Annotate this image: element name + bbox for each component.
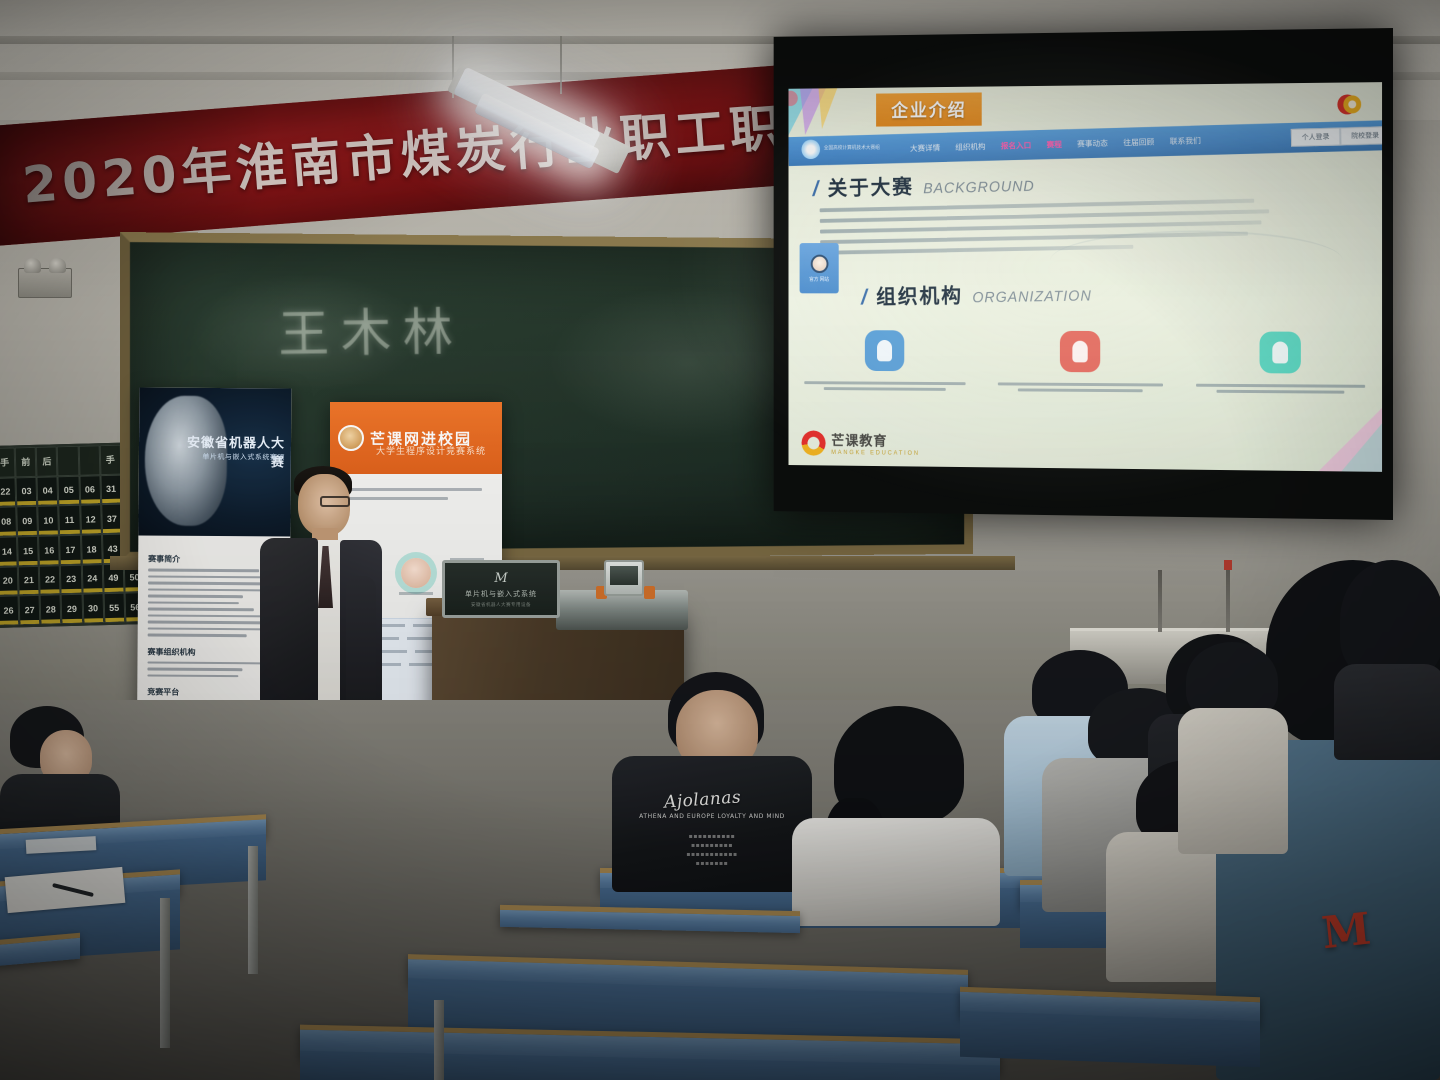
poster-body-line <box>148 595 243 598</box>
case-subtitle: 安徽省机器人大赛专用设备 <box>471 602 531 608</box>
seat-chart-cell: 03 <box>16 477 38 507</box>
slide-nav-item: 大赛详情 <box>910 142 940 154</box>
seat-chart-cell: 28 <box>40 595 62 625</box>
slide-decoration-topleft <box>788 84 859 135</box>
organization-caption <box>1192 381 1369 397</box>
poster-body-line <box>148 588 262 591</box>
student-body <box>612 756 812 892</box>
hoodie-graphic-block: ▪▪▪▪▪▪▪▪▪▪▪▪▪▪▪▪▪▪▪▪▪▪▪▪▪▪▪▪▪▪▪▪▪▪▪▪▪ <box>612 832 812 868</box>
student-hair <box>1340 560 1440 680</box>
section-title-en: BACKGROUND <box>923 178 1035 197</box>
seat-chart-header: 手 <box>99 445 121 475</box>
organization-caption-line <box>1217 390 1344 394</box>
organization-column <box>994 331 1167 396</box>
monkey-mascot-icon <box>338 425 364 451</box>
seat-chart-cell: 26 <box>0 596 19 626</box>
desk-leg <box>434 1000 444 1080</box>
seat-chart-cell: 10 <box>38 506 60 536</box>
classroom-photo: 2020年淮南市煤炭行业职工职业技能大 手前后手2203040506313208… <box>0 0 1440 1080</box>
seat-chart-cell: 15 <box>17 536 39 566</box>
organization-caption-line <box>997 382 1163 386</box>
student-body <box>1178 708 1288 854</box>
case-title: 单片机与嵌入式系统 <box>465 589 537 599</box>
section-title-cn: 组织机构 <box>876 280 963 311</box>
emergency-light <box>18 268 72 298</box>
desk-leg <box>248 846 258 974</box>
poster-body-line <box>147 674 238 677</box>
seat-chart-cell: 11 <box>59 505 81 535</box>
poster-body-line <box>148 634 247 637</box>
slash-icon: / <box>812 176 818 201</box>
poster-body-line <box>147 668 242 671</box>
organization-caption <box>801 378 970 394</box>
seat-chart-cell: 22 <box>0 477 16 507</box>
seat-chart-cell: 30 <box>82 593 104 623</box>
person-icon <box>810 254 828 272</box>
poster-body-line <box>148 569 259 572</box>
person-icon <box>1260 332 1301 374</box>
section-title-cn: 关于大赛 <box>827 171 914 202</box>
slide-nav-item: 组织机构 <box>955 141 986 153</box>
seat-chart-cell: 06 <box>79 475 101 505</box>
jacket-graphic: M <box>1319 904 1371 960</box>
light-stem <box>560 36 562 94</box>
slide-nav-item: 联系我们 <box>1170 135 1201 147</box>
slide-nav-buttons: 个人登录院校登录 <box>1291 126 1382 147</box>
seat-chart-cell: 27 <box>19 595 41 625</box>
seat-chart-header <box>57 446 79 476</box>
brand-logo-icon <box>1334 92 1364 116</box>
equipment-knob <box>644 586 655 599</box>
slide-section-tag: 企业介绍 <box>876 92 982 126</box>
slide-nav-item: 赛事动态 <box>1077 137 1108 149</box>
seat-chart-cell: 20 <box>0 566 19 596</box>
poster-body-line <box>148 601 239 604</box>
organization-column <box>1192 331 1369 397</box>
seat-chart-cell: 55 <box>103 593 125 623</box>
slide-footer-logo: 芒课教育 MANGKE EDUCATION <box>801 430 919 456</box>
organization-caption <box>994 379 1167 395</box>
organization-caption-line <box>1196 384 1366 388</box>
counter-pole <box>1158 570 1162 632</box>
slide-brandmark: 全国高校计算机技术大赛组 <box>801 134 887 164</box>
pole-indicator <box>1224 560 1232 570</box>
person-glyph <box>877 340 892 361</box>
seat-chart-cell: 23 <box>60 564 82 594</box>
monitor-screen <box>610 566 638 585</box>
desk-leg <box>160 898 170 1048</box>
presentation-slide: 企业介绍 大赛详情组织机构报名入口赛程赛事动态往届回顾联系我们个人登录院校登录 … <box>788 82 1382 472</box>
seat-chart-cell: 05 <box>58 475 80 505</box>
brand-sun-icon <box>801 140 820 159</box>
projection-screen: 企业介绍 大赛详情组织机构报名入口赛程赛事动态往届回顾联系我们个人登录院校登录 … <box>774 28 1393 520</box>
seat-chart-cell: 08 <box>0 507 17 537</box>
poster-subtitle: 单片机与嵌入式系统赛项 <box>173 452 285 463</box>
seat-chart-cell: 04 <box>37 476 59 506</box>
seat-chart-header <box>78 445 100 475</box>
organization-caption-line <box>1018 388 1142 392</box>
seat-chart-cell: 14 <box>0 536 18 566</box>
slash-icon: / <box>861 285 867 310</box>
chalkboard-writing: 王木林 <box>278 291 465 367</box>
seat-chart-cell: 24 <box>81 564 103 594</box>
organization-icon-row <box>788 330 1382 397</box>
person-icon <box>1060 331 1100 372</box>
poster-body-line <box>148 608 254 611</box>
footer-brand-sub: MANGKE EDUCATION <box>831 450 920 457</box>
seat-chart-header: 前 <box>15 447 37 477</box>
seat-chart-cell: 12 <box>80 505 102 535</box>
seat-chart-cell: 22 <box>39 565 61 595</box>
seat-chart-header: 手 <box>0 447 16 477</box>
hoodie-graphic-subtext: ATHENA AND EUROPE LOYALTY AND MIND <box>612 812 812 821</box>
student-hoodie-black: Ajolanas ATHENA AND EUROPE LOYALTY AND M… <box>612 672 812 892</box>
case-logo: M <box>494 571 507 586</box>
slide-decoration-bottomright <box>1273 397 1382 472</box>
badge-caption: 官方 网站 <box>809 275 829 282</box>
slide-wave-decoration <box>1050 230 1342 290</box>
poster-body-line <box>148 627 268 630</box>
equipment-case: M 单片机与嵌入式系统 安徽省机器人大赛专用设备 <box>442 560 560 618</box>
seat-chart-cell: 29 <box>61 594 83 624</box>
student-back-right <box>1340 560 1440 740</box>
slide-nav-item: 往届回顾 <box>1123 136 1154 148</box>
student-body <box>792 818 1000 926</box>
equipment-monitor <box>604 560 644 596</box>
seat-chart-cell: 21 <box>18 565 40 595</box>
slide-nav-button: 个人登录 <box>1291 128 1341 147</box>
person-glyph <box>1072 341 1087 363</box>
poster-body-line <box>147 661 261 664</box>
poster-header: 芒课网进校园 <box>330 402 502 474</box>
student-body <box>1334 664 1440 760</box>
slide-nav-button: 院校登录 <box>1340 126 1382 145</box>
seat-chart-cell: 16 <box>38 535 60 565</box>
slide-section-organization-heading: / 组织机构 ORGANIZATION <box>861 278 1092 311</box>
seat-chart-header: 后 <box>36 446 58 476</box>
student-pale-far-right <box>1178 642 1288 842</box>
seat-chart-cell: 31 <box>100 474 122 504</box>
person-icon <box>865 330 904 371</box>
person-glyph <box>1272 342 1288 364</box>
footer-ring-icon <box>801 430 825 455</box>
brand-caption: 全国高校计算机技术大赛组 <box>824 146 880 152</box>
organization-caption-line <box>804 381 966 385</box>
student-white-jacket <box>792 706 1000 918</box>
seat-chart-cell: 17 <box>59 535 81 565</box>
seat-chart-cell: 09 <box>16 506 38 536</box>
organization-column <box>801 330 970 394</box>
seat-chart-cell: 18 <box>81 534 103 564</box>
official-site-badge: 官方 网站 <box>800 243 839 293</box>
poster-body-line <box>148 614 273 617</box>
glasses-icon <box>320 496 350 507</box>
counter-pole <box>1226 566 1230 632</box>
slide-nav-item: 报名入口 <box>1001 140 1032 152</box>
slide-section-background-heading: / 关于大赛 BACKGROUND <box>812 168 1035 202</box>
section-title-en: ORGANIZATION <box>972 288 1092 307</box>
footer-brand-name: 芒课教育 <box>831 431 920 451</box>
poster-subtitle: 大学生程序设计竞赛系统 <box>376 444 486 457</box>
slide-nav-item: 赛程 <box>1046 139 1062 150</box>
organization-caption-line <box>824 387 946 391</box>
equipment-base <box>556 590 688 630</box>
